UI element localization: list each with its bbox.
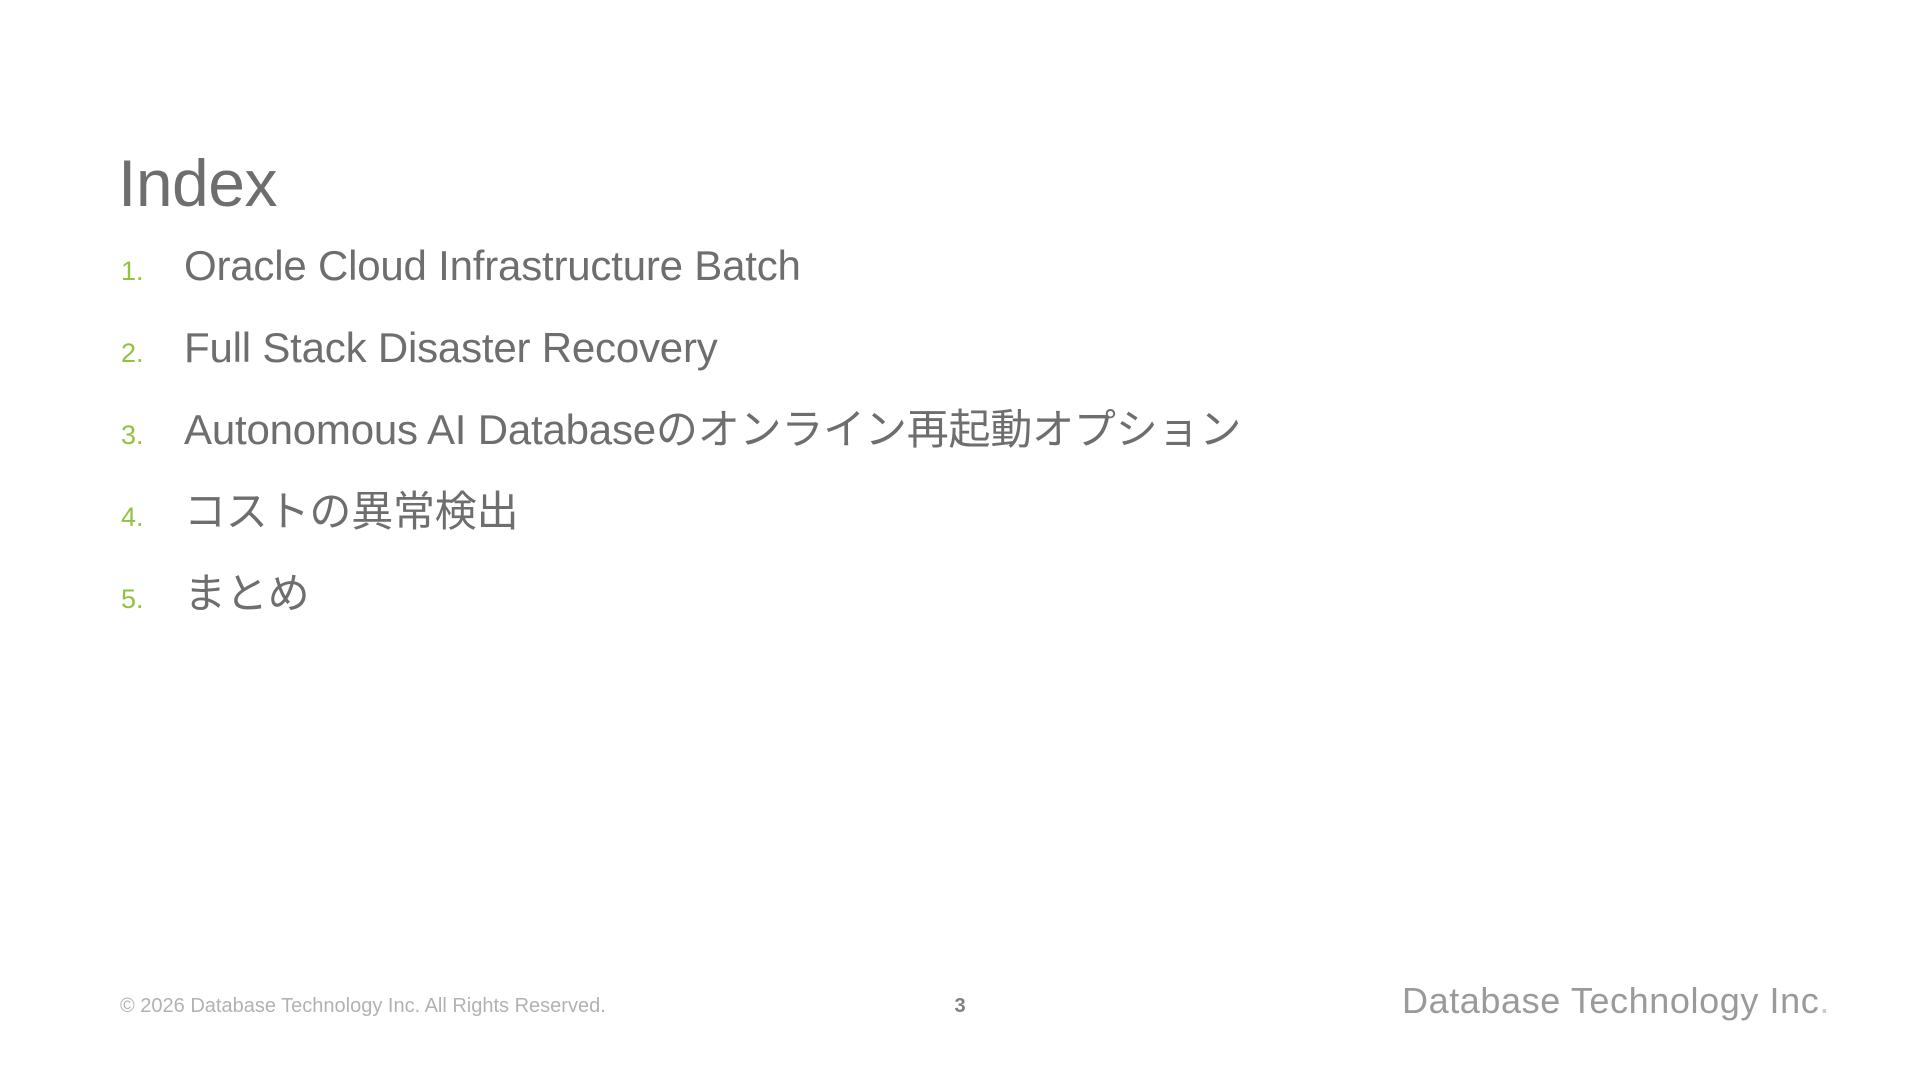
slide-footer: © 2026 Database Technology Inc. All Righ… bbox=[0, 960, 1920, 1080]
page-title: Index bbox=[118, 147, 277, 220]
list-item-number: 4. bbox=[118, 502, 184, 533]
company-logo-dot: . bbox=[1819, 980, 1830, 1021]
list-item-label: Autonomous AI Databaseのオンライン再起動オプション bbox=[184, 406, 1241, 454]
list-item[interactable]: 1. Oracle Cloud Infrastructure Batch bbox=[118, 242, 1818, 324]
index-list: 1. Oracle Cloud Infrastructure Batch 2. … bbox=[118, 242, 1818, 652]
slide-canvas: Index 1. Oracle Cloud Infrastructure Bat… bbox=[0, 0, 1920, 1080]
list-item[interactable]: 4. コストの異常検出 bbox=[118, 488, 1818, 570]
list-item-label: Full Stack Disaster Recovery bbox=[184, 324, 718, 372]
list-item-number: 3. bbox=[118, 420, 184, 451]
list-item[interactable]: 5. まとめ bbox=[118, 570, 1818, 652]
list-item-label: コストの異常検出 bbox=[184, 488, 518, 536]
company-logo: Database Technology Inc. bbox=[1402, 980, 1830, 1022]
list-item-label: Oracle Cloud Infrastructure Batch bbox=[184, 242, 801, 290]
company-logo-text: Database Technology Inc bbox=[1402, 980, 1819, 1021]
list-item-number: 5. bbox=[118, 584, 184, 615]
list-item[interactable]: 3. Autonomous AI Databaseのオンライン再起動オプション bbox=[118, 406, 1818, 488]
list-item-label: まとめ bbox=[184, 570, 309, 618]
list-item[interactable]: 2. Full Stack Disaster Recovery bbox=[118, 324, 1818, 406]
list-item-number: 2. bbox=[118, 338, 184, 369]
list-item-number: 1. bbox=[118, 256, 184, 287]
